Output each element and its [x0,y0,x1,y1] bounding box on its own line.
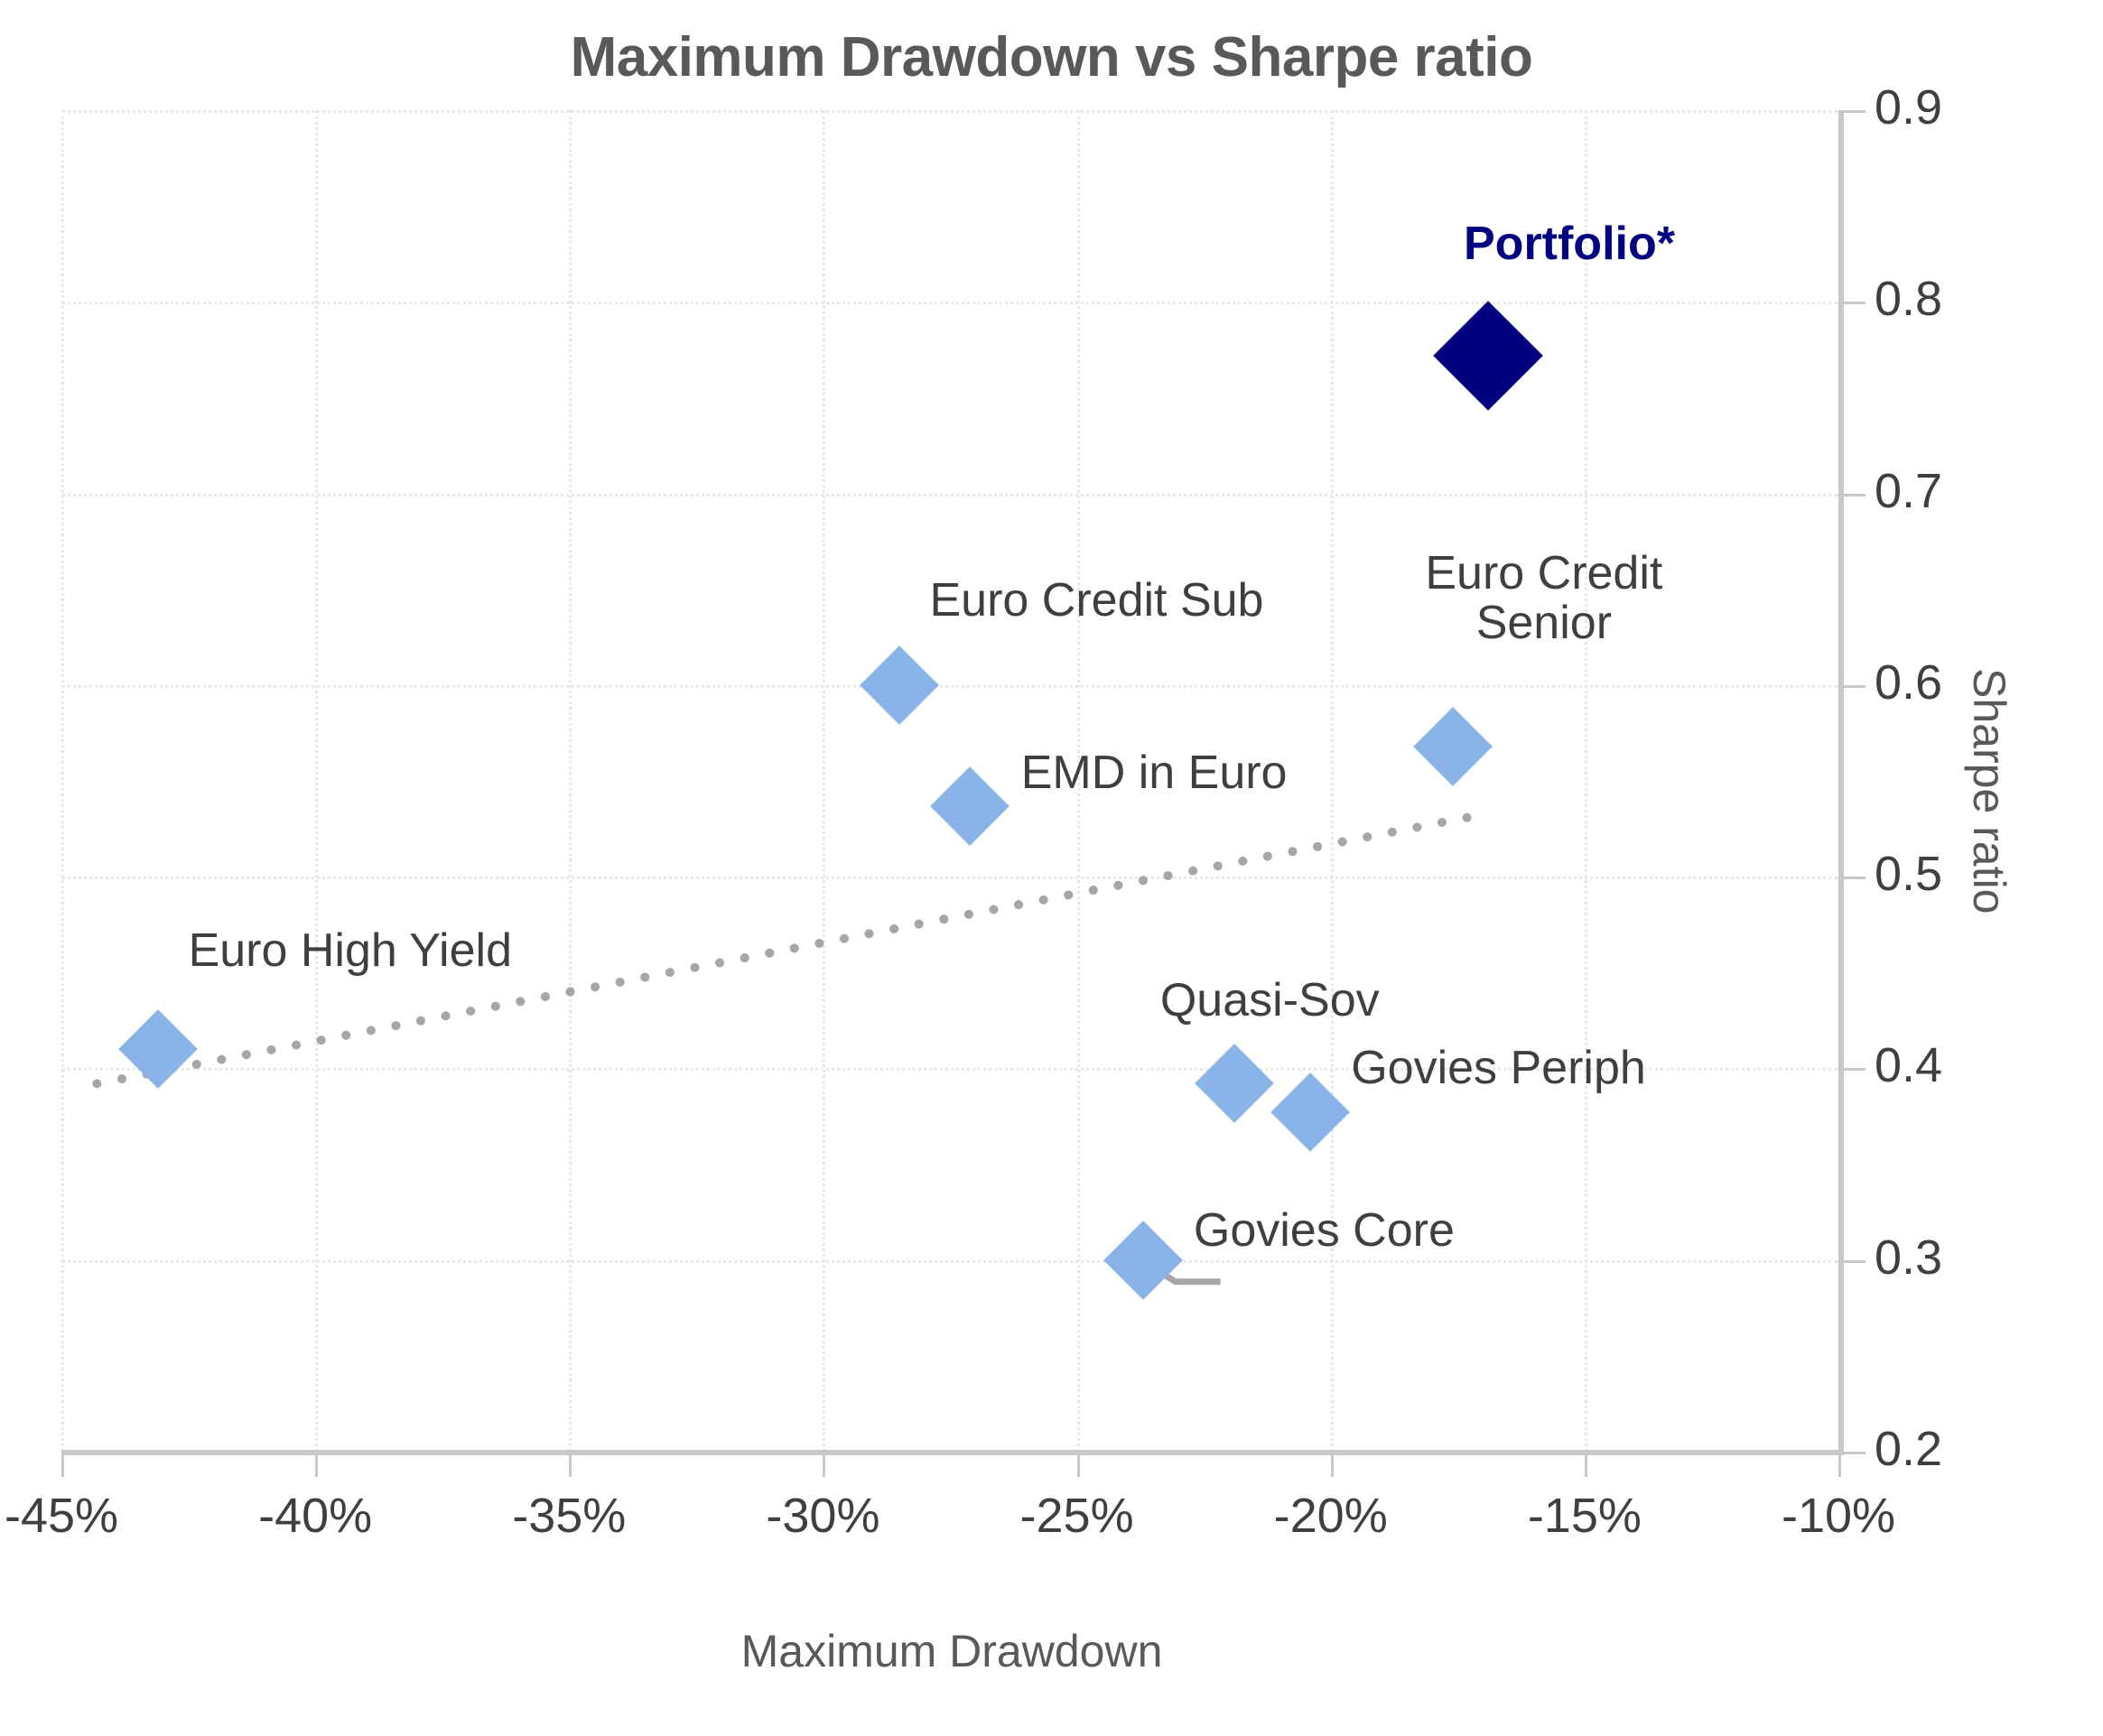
x-axis-tick [823,1455,825,1477]
y-axis-tick-label: 0.8 [1875,271,1942,325]
x-axis-tick-label: -15% [1485,1488,1684,1544]
x-axis-tick-label: -25% [978,1488,1177,1544]
y-axis-tick [1844,685,1866,688]
x-axis-tick [1331,1455,1334,1477]
x-axis-tick [61,1455,64,1477]
data-point-label: Euro High Yield [189,926,512,976]
x-axis-line [61,1450,1842,1455]
x-axis-tick-label: -20% [1232,1488,1430,1544]
y-axis-tick-label: 0.3 [1875,1230,1942,1284]
data-point-label: Govies Periph [1351,1044,1646,1093]
y-axis-tick-label: 0.2 [1875,1421,1942,1475]
x-axis-tick [1838,1455,1841,1477]
data-point-label: Quasi-Sov [1160,976,1380,1026]
x-axis-tick-label: -45% [0,1488,161,1544]
y-axis-tick [1844,494,1866,497]
leader-lines [61,110,1838,1452]
data-point-label: Euro Credit Senior [1425,549,1662,648]
x-axis-tick-label: -40% [216,1488,414,1544]
data-point-label: Euro Credit Sub [930,576,1264,626]
x-axis-title: Maximum Drawdown [61,1625,1842,1677]
y-axis-tick [1844,110,1866,113]
y-axis-tick [1844,877,1866,879]
y-axis-title: Sharpe ratio [1963,668,2015,914]
plot-area: Euro High YieldEuro Credit SubEMD in Eur… [61,110,1838,1452]
data-point-label: EMD in Euro [1021,748,1288,798]
x-axis-tick [1585,1455,1587,1477]
y-axis-line [1838,110,1844,1455]
y-axis-tick [1844,1260,1866,1263]
y-axis-tick-label: 0.4 [1875,1037,1942,1091]
x-axis-tick [569,1455,572,1477]
data-point-label: Govies Core [1194,1206,1455,1256]
x-axis-tick-label: -35% [470,1488,668,1544]
y-axis-tick-label: 0.6 [1875,654,1942,709]
y-axis-tick [1844,1068,1866,1071]
x-axis-tick [315,1455,318,1477]
x-axis-tick-label: -30% [723,1488,922,1544]
y-axis-tick-label: 0.7 [1875,463,1942,517]
y-axis-tick [1844,302,1866,304]
data-point-label: Portfolio* [1464,219,1675,269]
page-title: Maximum Drawdown vs Sharpe ratio [0,25,2103,89]
scatter-chart: Maximum Drawdown vs Sharpe ratio Euro Hi… [0,0,2103,1736]
y-axis-tick [1844,1452,1866,1454]
y-axis-tick-label: 0.5 [1875,846,1942,900]
x-axis-tick [1077,1455,1080,1477]
y-axis-tick-label: 0.9 [1875,79,1942,134]
x-axis-tick-label: -10% [1739,1488,1938,1544]
